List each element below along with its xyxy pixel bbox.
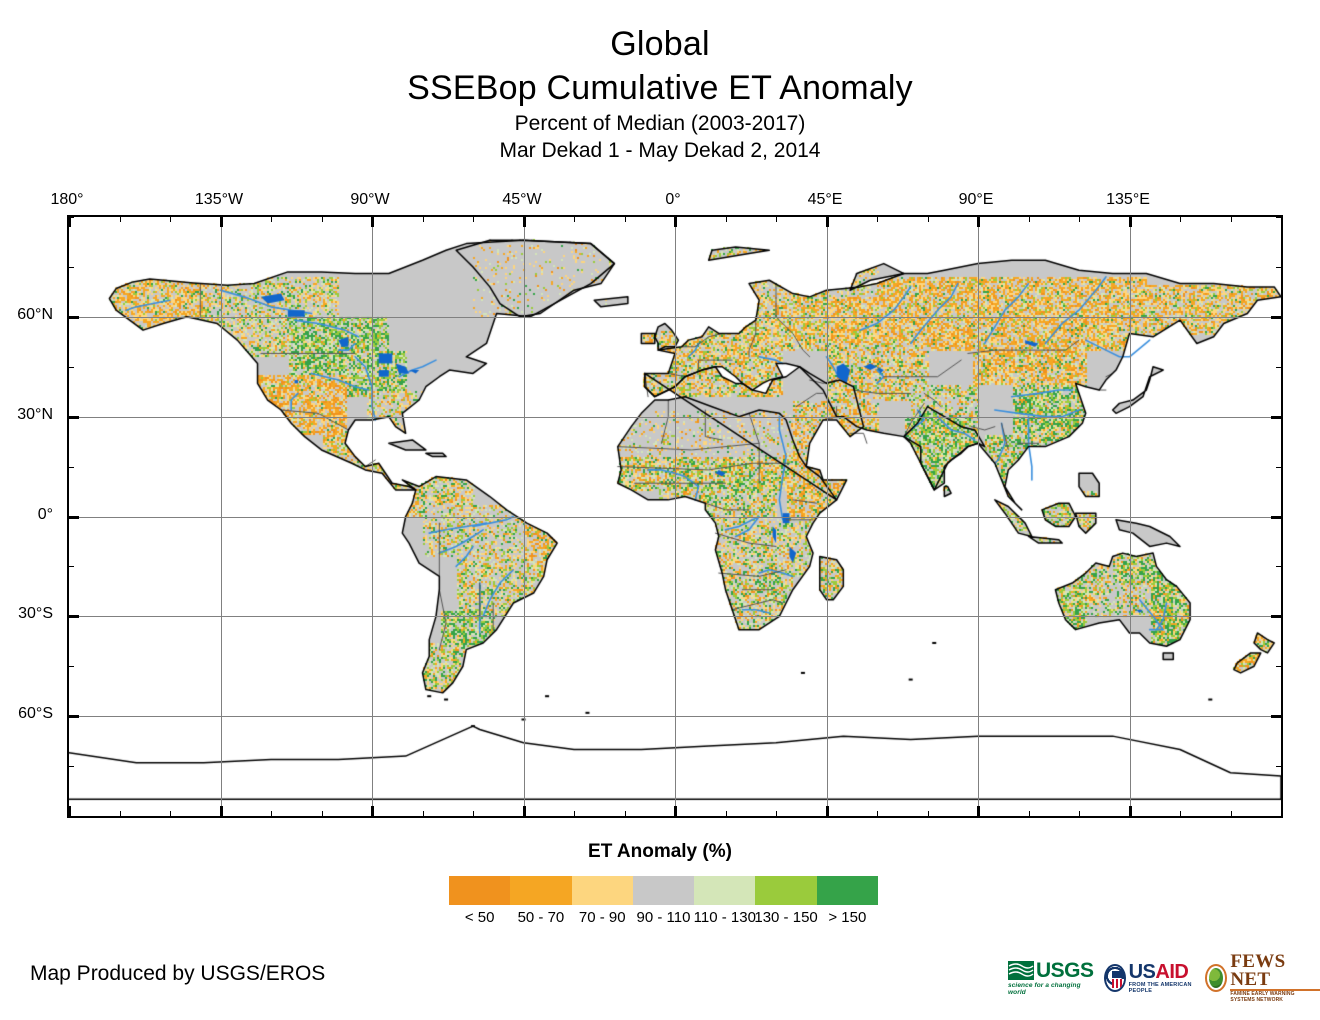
tick-lon [371,806,374,817]
tick-lon [574,811,575,817]
tick-lon [1079,216,1080,222]
tick-lat [1276,217,1282,218]
title-line-2: SSEBop Cumulative ET Anomaly [0,66,1320,110]
tick-lon [523,806,526,817]
tick-lon [220,216,223,227]
tick-lat [68,467,74,468]
usaid-wordmark: USAID [1129,963,1196,982]
tick-lon [674,806,677,817]
tick-lon [776,216,777,222]
tick-lat [68,516,79,519]
tick-lat [68,566,74,567]
tick-lat [1271,316,1282,319]
tick-lon [371,216,374,227]
lon-label-2: 90°W [350,191,389,209]
legend-color-ramp [449,876,878,905]
legend-swatch-2 [510,876,571,905]
gridline-lat [69,317,1281,318]
fews-net-logo: FEWS NET FAMINE EARLY WARNING SYSTEMS NE… [1205,953,1320,1003]
tick-lon [977,216,980,227]
gridline-lat [69,716,1281,717]
tick-lat [1276,367,1282,368]
tick-lat [68,217,74,218]
tick-lat [1276,566,1282,567]
usgs-wordmark: USGS [1036,961,1094,981]
usaid-logo: USAID FROM THE AMERICAN PEOPLE [1104,963,1196,994]
legend-label-2: 50 - 70 [518,909,565,926]
legend-swatch-1 [449,876,510,905]
tick-lat [1271,416,1282,419]
tick-lon [625,811,626,817]
tick-lon [120,811,121,817]
tick-lon [1029,216,1030,222]
legend-label-6: 130 - 150 [754,909,817,926]
tick-lon [928,811,929,817]
legend-swatch-7 [817,876,878,905]
tick-lat [1271,715,1282,718]
map-container[interactable]: 180°135°W90°W45°W0°45°E90°E135°E 60°N30°… [67,215,1283,818]
tick-lat [68,666,74,667]
tick-lon [523,216,526,227]
tick-lon [423,216,424,222]
tick-lat [1271,615,1282,618]
tick-lon [928,216,929,222]
usaid-tagline: FROM THE AMERICAN PEOPLE [1129,982,1196,994]
tick-lat [1276,816,1282,817]
tick-lon [1231,216,1232,222]
tick-lon [877,811,878,817]
tick-lon [726,216,727,222]
tick-lat [68,316,79,319]
legend-swatch-5 [694,876,755,905]
legend-title: ET Anomaly (%) [0,841,1320,863]
legend-label-1: < 50 [465,909,495,926]
tick-lon [170,216,171,222]
legend-class-labels: < 5050 - 7070 - 9090 - 110110 - 130130 -… [432,909,902,931]
lon-label-0: 180° [50,191,83,209]
title-line-1: Global [0,22,1320,66]
tick-lon [574,216,575,222]
lon-label-4: 0° [665,191,680,209]
legend-label-4: 90 - 110 [637,909,691,926]
lat-label-1: 30°N [17,406,53,424]
legend-label-7: > 150 [828,909,866,926]
lon-label-1: 135°W [195,191,243,209]
usgs-wave-icon [1008,961,1034,980]
usgs-tagline: science for a changing world [1008,982,1094,996]
tick-lon [170,811,171,817]
map-credit: Map Produced by USGS/EROS [30,962,325,986]
tick-lat [68,766,74,767]
legend-swatch-4 [633,876,694,905]
tick-lon [674,216,677,227]
legend-label-3: 70 - 90 [579,909,626,926]
tick-lon [877,216,878,222]
tick-lat [68,615,79,618]
tick-lon [1129,806,1132,817]
tick-lon [1129,216,1132,227]
tick-lon [1231,811,1232,817]
tick-lon [322,811,323,817]
tick-lon [1180,811,1181,817]
tick-lon [625,216,626,222]
tick-lat [1276,467,1282,468]
tick-lat [68,367,74,368]
tick-lat [1271,516,1282,519]
lon-label-7: 135°E [1106,191,1150,209]
tick-lat [1276,766,1282,767]
tick-lon [220,806,223,817]
lat-label-4: 60°S [18,705,53,723]
gridline-lat [69,616,1281,617]
tick-lon [826,216,829,227]
usgs-logo: USGS science for a changing world [1008,961,1094,996]
lon-label-3: 45°W [502,191,541,209]
title-subtitle-period: Percent of Median (2003-2017) [0,110,1320,137]
lat-label-0: 60°N [17,306,53,324]
title-subtitle-dates: Mar Dekad 1 - May Dekad 2, 2014 [0,137,1320,164]
tick-lat [1276,267,1282,268]
map-title-block: Global SSEBop Cumulative ET Anomaly Perc… [0,22,1320,164]
tick-lon [1281,216,1282,222]
tick-lon [423,811,424,817]
usaid-word-us: US [1129,961,1156,983]
tick-lon [776,811,777,817]
lat-label-2: 0° [38,506,53,524]
tick-lat [68,816,74,817]
gridline-lat [69,517,1281,518]
tick-lon [271,811,272,817]
usaid-seal-icon [1104,964,1126,992]
tick-lon [271,216,272,222]
fews-tagline: FAMINE EARLY WARNING SYSTEMS NETWORK [1230,991,1320,1003]
tick-lon [977,806,980,817]
tick-lon [726,811,727,817]
fews-wordmark: FEWS NET [1230,953,1320,989]
map-frame [67,215,1283,818]
tick-lon [1180,216,1181,222]
lon-label-5: 45°E [808,191,843,209]
tick-lon [1079,811,1080,817]
fews-globe-icon [1205,964,1227,992]
legend-label-5: 110 - 130 [694,909,756,926]
lon-label-6: 90°E [959,191,994,209]
legend-swatch-3 [572,876,633,905]
tick-lon [1281,811,1282,817]
tick-lat [68,416,79,419]
tick-lon [473,216,474,222]
tick-lon [322,216,323,222]
gridline-lat [69,417,1281,418]
usaid-word-aid: AID [1155,961,1188,983]
legend-swatch-6 [755,876,816,905]
tick-lon [1029,811,1030,817]
agency-logos: USGS science for a changing world USAID … [1008,957,1320,999]
tick-lat [1276,666,1282,667]
tick-lon [473,811,474,817]
tick-lon [120,216,121,222]
tick-lon [826,806,829,817]
tick-lat [68,715,79,718]
lat-label-3: 30°S [18,605,53,623]
tick-lat [68,267,74,268]
